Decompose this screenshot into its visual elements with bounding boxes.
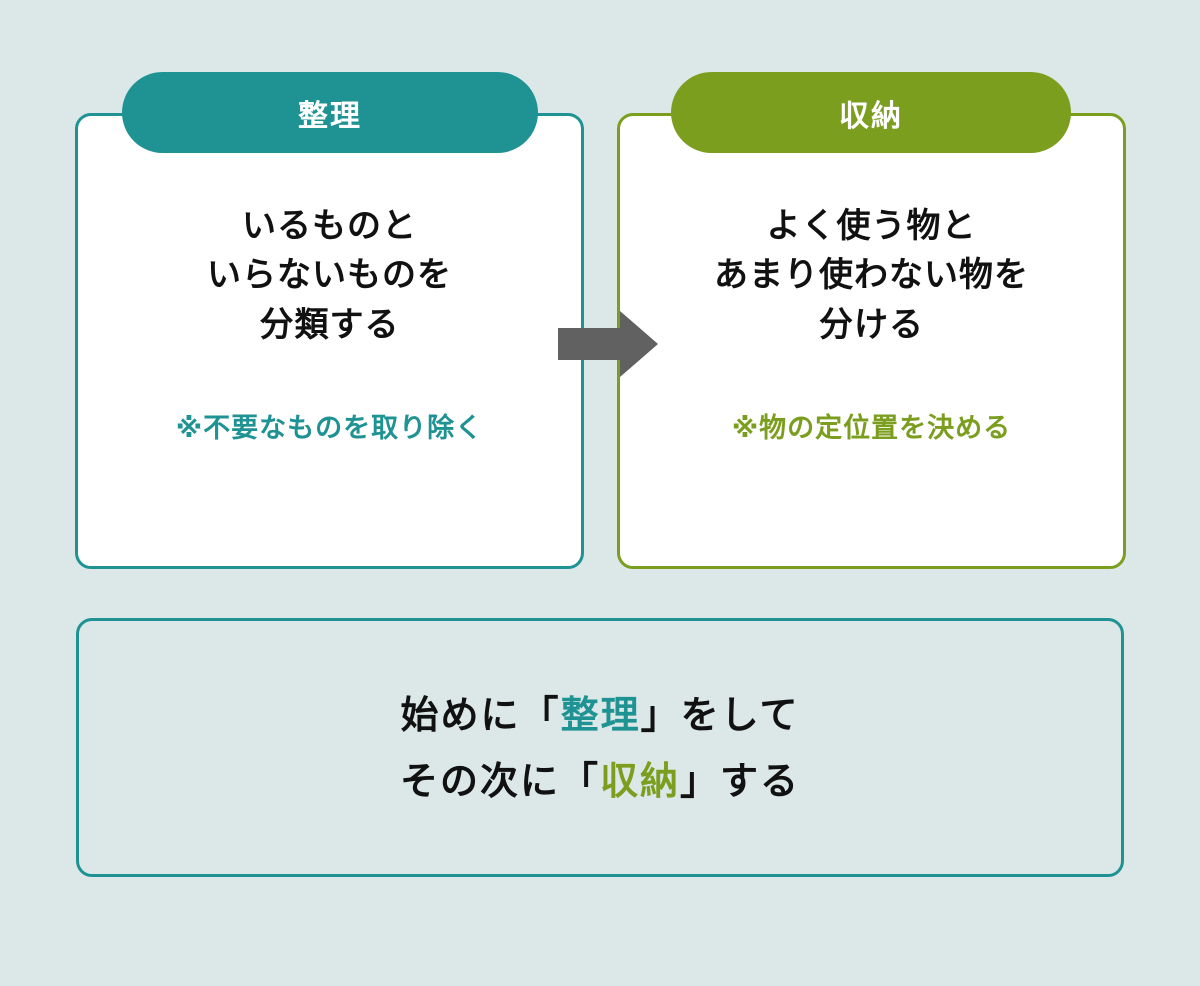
summary-line-2: その次に「収納」する — [400, 762, 800, 800]
summary-line-1: 始めに「整理」をして — [401, 696, 800, 734]
step-card-seiri-body: いるものと いらないものを 分類する ※不要なものを取り除く — [78, 202, 581, 445]
step-badge-shuno-label: 収納 — [839, 91, 903, 135]
summary-line-1-highlight: 整理 — [561, 693, 641, 737]
step-card-seiri-main-text: いるものと いらないものを 分類する — [78, 202, 581, 350]
step-card-seiri-main-line-2: いらないものを — [78, 251, 581, 300]
right-arrow-icon — [558, 311, 658, 377]
step-card-seiri-main-line-1: いるものと — [78, 202, 581, 251]
summary-line-1-post: 」をして — [641, 693, 800, 737]
step-card-seiri-main-line-3: 分類する — [78, 301, 581, 350]
step-card-shuno: よく使う物と あまり使わない物を 分ける ※物の定位置を決める — [617, 113, 1126, 569]
step-card-shuno-note: ※物の定位置を決める — [620, 406, 1123, 445]
summary-box: 始めに「整理」をして その次に「収納」する — [76, 618, 1124, 877]
summary-line-2-post: 」する — [680, 759, 800, 803]
summary-line-2-pre: その次に「 — [400, 759, 600, 803]
step-card-shuno-body: よく使う物と あまり使わない物を 分ける ※物の定位置を決める — [620, 202, 1123, 445]
summary-line-2-highlight: 収納 — [600, 759, 680, 803]
step-card-shuno-main-line-3: 分ける — [620, 301, 1123, 350]
diagram-canvas: いるものと いらないものを 分類する ※不要なものを取り除く 整理 よく使う物と… — [0, 0, 1200, 986]
summary-line-1-pre: 始めに「 — [401, 693, 561, 737]
step-card-shuno-main-line-1: よく使う物と — [620, 202, 1123, 251]
step-badge-shuno: 収納 — [671, 72, 1071, 153]
step-card-seiri-note: ※不要なものを取り除く — [78, 406, 581, 445]
step-badge-seiri: 整理 — [122, 72, 538, 153]
step-card-shuno-main-text: よく使う物と あまり使わない物を 分ける — [620, 202, 1123, 350]
step-card-shuno-main-line-2: あまり使わない物を — [620, 251, 1123, 300]
step-card-seiri: いるものと いらないものを 分類する ※不要なものを取り除く — [75, 113, 584, 569]
step-badge-seiri-label: 整理 — [298, 91, 362, 135]
